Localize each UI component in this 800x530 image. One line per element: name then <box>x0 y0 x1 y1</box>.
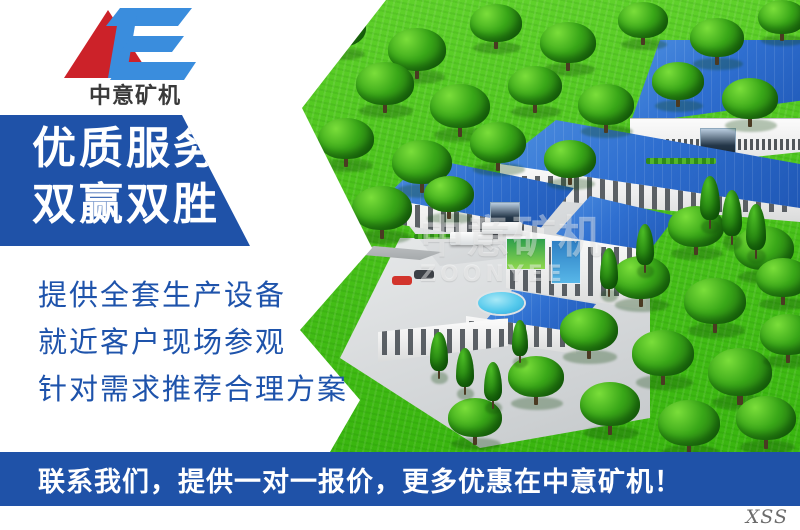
feature-item-3: 针对需求推荐合理方案 <box>38 366 368 413</box>
tree <box>580 382 640 436</box>
billboard-blue <box>551 240 581 284</box>
tree <box>560 308 618 360</box>
decorative-pool <box>478 292 524 314</box>
tree <box>736 396 796 450</box>
tree <box>544 140 596 186</box>
conifer-tree <box>484 362 502 410</box>
tree <box>722 78 778 128</box>
tree <box>652 62 704 108</box>
tree <box>618 2 668 46</box>
tree <box>470 4 522 50</box>
tree <box>356 62 414 114</box>
billboard-green <box>506 238 546 270</box>
feature-list: 提供全套生产设备 就近客户现场参观 针对需求推荐合理方案 <box>38 272 368 413</box>
car-dark <box>414 270 434 279</box>
tree <box>424 176 474 220</box>
truck-2 <box>482 222 522 234</box>
footer-watermark: XSS <box>668 506 788 530</box>
feature-item-1: 提供全套生产设备 <box>38 272 368 319</box>
conifer-tree <box>512 320 528 364</box>
conifer-tree <box>700 176 720 230</box>
cta-banner[interactable]: 联系我们，提供一对一报价，更多优惠在中意矿机！ <box>0 452 800 506</box>
conifer-tree <box>456 348 474 396</box>
company-logo[interactable]: 中意矿机 <box>60 6 210 111</box>
conifer-tree <box>430 332 448 380</box>
tree <box>690 18 744 66</box>
conifer-tree <box>722 190 742 246</box>
tree <box>758 0 800 42</box>
tree <box>470 122 526 172</box>
tree <box>578 84 634 134</box>
conifer-tree <box>746 204 766 260</box>
tree <box>508 66 562 114</box>
promo-banner: 中意矿机 ZOONYEE 中意矿机 优质服务 双赢双胜 提供全套生产设备 就近客… <box>0 0 800 530</box>
hedge-row-1 <box>646 158 716 164</box>
company-logo-text: 中意矿机 <box>60 78 210 110</box>
tree <box>632 330 694 386</box>
tree <box>540 22 596 72</box>
conifer-tree <box>600 248 618 298</box>
triangle-e-logo-icon <box>60 6 210 84</box>
car-red <box>392 276 412 285</box>
tree <box>684 278 746 334</box>
feature-item-2: 就近客户现场参观 <box>38 319 368 366</box>
headline-line-2: 双赢双胜 <box>32 183 220 227</box>
tree <box>658 400 720 452</box>
tree <box>760 314 800 364</box>
conifer-tree <box>636 224 654 274</box>
cta-text: 联系我们，提供一对一报价，更多优惠在中意矿机！ <box>38 460 682 499</box>
tree <box>756 258 800 306</box>
